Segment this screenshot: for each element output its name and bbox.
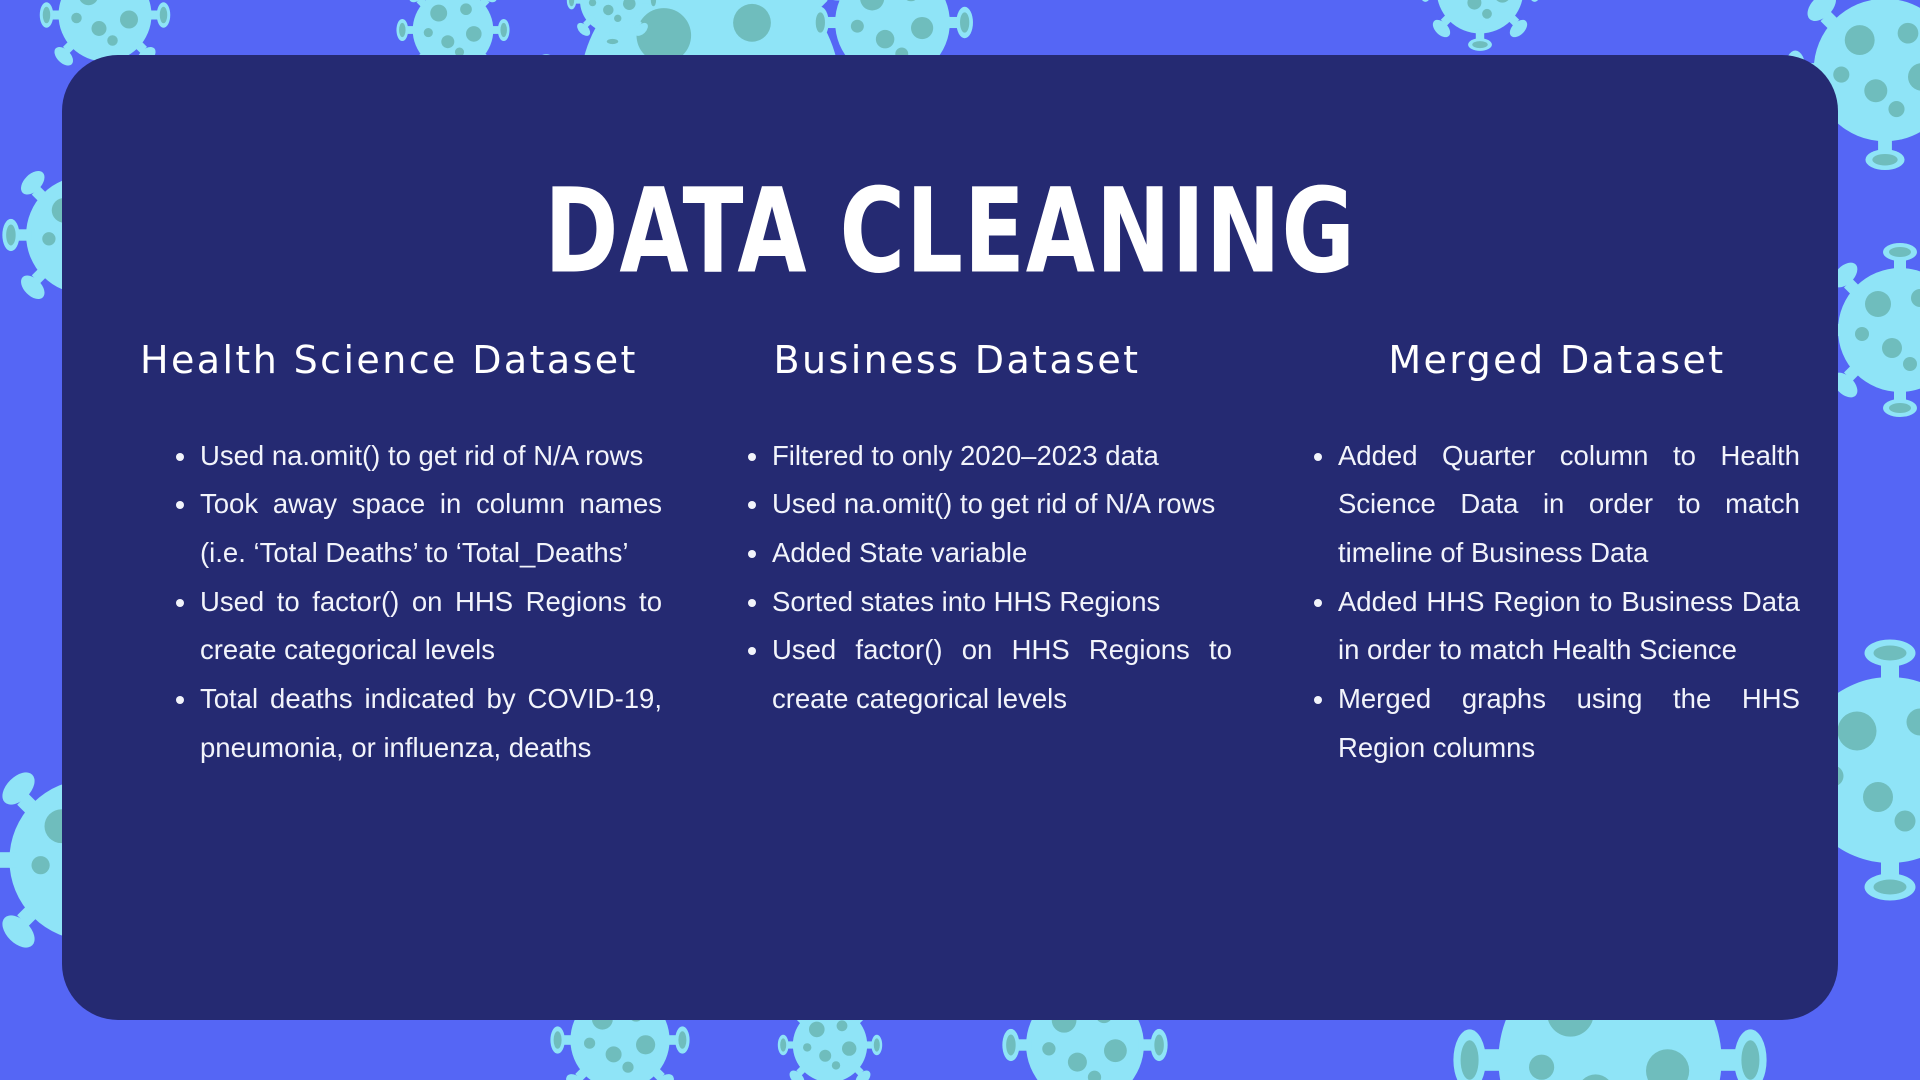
- list-item: Total deaths indicated by COVID-19, pneu…: [170, 675, 662, 772]
- column-business: Business Dataset Filtered to only 2020–2…: [654, 340, 1246, 773]
- slide-canvas: DATA CLEANING Health Science Dataset Use…: [0, 0, 1920, 1080]
- bullet-list: Filtered to only 2020–2023 data Used na.…: [742, 432, 1232, 724]
- content-card: DATA CLEANING Health Science Dataset Use…: [62, 55, 1838, 1020]
- list-item: Added State variable: [742, 529, 1232, 578]
- list-item: Used na.omit() to get rid of N/A rows: [170, 432, 662, 481]
- bullet-list: Added Quarter column to Health Science D…: [1308, 432, 1800, 773]
- list-item: Sorted states into HHS Regions: [742, 578, 1232, 627]
- column-heading: Business Dataset: [664, 340, 1236, 382]
- column-heading: Health Science Dataset: [72, 340, 644, 382]
- page-title: DATA CLEANING: [186, 173, 1713, 289]
- virus-icon: [560, 0, 665, 53]
- list-item: Took away space in column names (i.e. ‘T…: [170, 480, 662, 577]
- bullet-list: Used na.omit() to get rid of N/A rows To…: [170, 432, 662, 773]
- column-merged: Merged Dataset Added Quarter column to H…: [1246, 340, 1838, 773]
- list-item: Added Quarter column to Health Science D…: [1308, 432, 1800, 578]
- list-item: Added HHS Region to Business Data in ord…: [1308, 578, 1800, 675]
- dataset-columns: Health Science Dataset Used na.omit() to…: [62, 340, 1838, 773]
- list-item: Filtered to only 2020–2023 data: [742, 432, 1232, 481]
- list-item: Used na.omit() to get rid of N/A rows: [742, 480, 1232, 529]
- list-item: Used factor() on HHS Regions to create c…: [742, 626, 1232, 723]
- virus-icon: [1410, 0, 1550, 60]
- column-heading: Merged Dataset: [1256, 340, 1828, 382]
- list-item: Merged graphs using the HHS Region colum…: [1308, 675, 1800, 772]
- list-item: Used to factor() on HHS Regions to creat…: [170, 578, 662, 675]
- column-health-science: Health Science Dataset Used na.omit() to…: [62, 340, 654, 773]
